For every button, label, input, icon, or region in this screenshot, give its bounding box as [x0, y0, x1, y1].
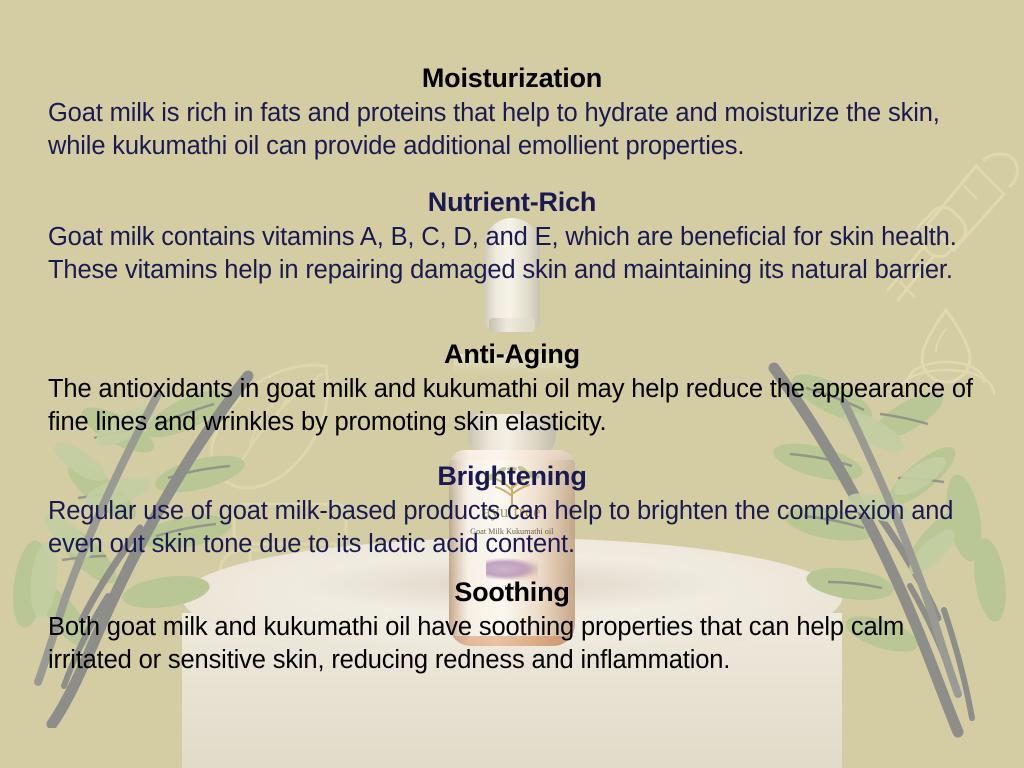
section-body: Goat milk is rich in fats and proteins t…: [0, 97, 1024, 163]
section-heading: Brightening: [0, 462, 1024, 490]
section-soothing: Soothing Both goat milk and kukumathi oi…: [0, 578, 1024, 678]
text-content-layer: Moisturization Goat milk is rich in fats…: [0, 0, 1024, 768]
section-body: Goat milk contains vitamins A, B, C, D, …: [0, 221, 1024, 287]
section-body: Regular use of goat milk-based products …: [0, 495, 1024, 561]
section-moisturization: Moisturization Goat milk is rich in fats…: [0, 64, 1024, 164]
section-brightening: Brightening Regular use of goat milk-bas…: [0, 462, 1024, 562]
section-heading: Anti-Aging: [0, 340, 1024, 368]
section-anti-aging: Anti-Aging The antioxidants in goat milk…: [0, 340, 1024, 440]
section-heading: Nutrient-Rich: [0, 188, 1024, 216]
section-body: The antioxidants in goat milk and kukuma…: [0, 373, 1024, 439]
section-body: Both goat milk and kukumathi oil have so…: [0, 611, 1024, 677]
slide-canvas: ayu tree Goat Milk Kukumathi oil 15 ml M…: [0, 0, 1024, 768]
section-heading: Soothing: [0, 578, 1024, 606]
section-heading: Moisturization: [0, 64, 1024, 92]
section-nutrient-rich: Nutrient-Rich Goat milk contains vitamin…: [0, 188, 1024, 288]
